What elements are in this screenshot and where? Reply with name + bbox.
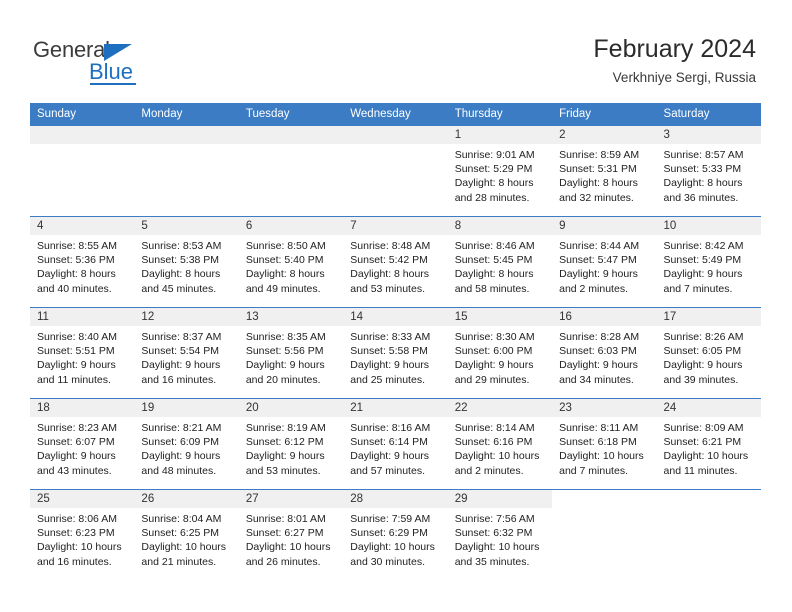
day-cell-inner: 4Sunrise: 8:55 AMSunset: 5:36 PMDaylight…	[30, 217, 134, 307]
day-detail-sunrise: Sunrise: 8:26 AM	[664, 330, 755, 344]
day-detail-daylight1: Daylight: 8 hours	[664, 176, 755, 190]
day-cell-inner: 13Sunrise: 8:35 AMSunset: 5:56 PMDayligh…	[239, 308, 343, 398]
day-cell-inner: 11Sunrise: 8:40 AMSunset: 5:51 PMDayligh…	[30, 308, 134, 398]
day-detail-sunset: Sunset: 6:07 PM	[37, 435, 128, 449]
calendar-day-cell[interactable]: 26Sunrise: 8:04 AMSunset: 6:25 PMDayligh…	[134, 490, 238, 581]
calendar-day-cell[interactable]: 11Sunrise: 8:40 AMSunset: 5:51 PMDayligh…	[30, 308, 134, 399]
calendar-day-cell[interactable]: 10Sunrise: 8:42 AMSunset: 5:49 PMDayligh…	[657, 217, 761, 308]
calendar-day-cell[interactable]: 4Sunrise: 8:55 AMSunset: 5:36 PMDaylight…	[30, 217, 134, 308]
day-number: 8	[448, 217, 552, 235]
day-number: 18	[30, 399, 134, 417]
day-detail-daylight2: and 45 minutes.	[141, 282, 232, 296]
calendar-day-cell[interactable]: 18Sunrise: 8:23 AMSunset: 6:07 PMDayligh…	[30, 399, 134, 490]
day-cell-inner: 15Sunrise: 8:30 AMSunset: 6:00 PMDayligh…	[448, 308, 552, 398]
calendar-day-cell[interactable]: 15Sunrise: 8:30 AMSunset: 6:00 PMDayligh…	[448, 308, 552, 399]
day-cell-inner: 6Sunrise: 8:50 AMSunset: 5:40 PMDaylight…	[239, 217, 343, 307]
page-subtitle: Verkhniye Sergi, Russia	[593, 69, 756, 86]
calendar-day-cell[interactable]: 2Sunrise: 8:59 AMSunset: 5:31 PMDaylight…	[552, 126, 656, 217]
calendar-day-cell[interactable]: 23Sunrise: 8:11 AMSunset: 6:18 PMDayligh…	[552, 399, 656, 490]
day-number: 26	[134, 490, 238, 508]
day-detail-daylight1: Daylight: 10 hours	[559, 449, 650, 463]
day-details: Sunrise: 8:42 AMSunset: 5:49 PMDaylight:…	[657, 235, 761, 296]
day-detail-sunrise: Sunrise: 8:11 AM	[559, 421, 650, 435]
day-detail-sunset: Sunset: 5:42 PM	[350, 253, 441, 267]
day-detail-sunset: Sunset: 5:31 PM	[559, 162, 650, 176]
day-number: 4	[30, 217, 134, 235]
calendar-day-cell[interactable]: 29Sunrise: 7:56 AMSunset: 6:32 PMDayligh…	[448, 490, 552, 581]
day-cell-inner: 18Sunrise: 8:23 AMSunset: 6:07 PMDayligh…	[30, 399, 134, 489]
day-cell-inner: 9Sunrise: 8:44 AMSunset: 5:47 PMDaylight…	[552, 217, 656, 307]
day-detail-daylight2: and 29 minutes.	[455, 373, 546, 387]
day-detail-daylight2: and 43 minutes.	[37, 464, 128, 478]
day-number: 13	[239, 308, 343, 326]
day-detail-sunrise: Sunrise: 8:14 AM	[455, 421, 546, 435]
day-cell-inner: 27Sunrise: 8:01 AMSunset: 6:27 PMDayligh…	[239, 490, 343, 580]
calendar-week-row: 25Sunrise: 8:06 AMSunset: 6:23 PMDayligh…	[30, 490, 761, 581]
day-detail-daylight2: and 48 minutes.	[141, 464, 232, 478]
day-detail-daylight1: Daylight: 10 hours	[350, 540, 441, 554]
brand-logo[interactable]: General Blue	[33, 38, 233, 84]
day-detail-sunset: Sunset: 5:33 PM	[664, 162, 755, 176]
day-detail-sunrise: Sunrise: 8:28 AM	[559, 330, 650, 344]
day-cell-inner: 3Sunrise: 8:57 AMSunset: 5:33 PMDaylight…	[657, 126, 761, 216]
day-detail-sunrise: Sunrise: 8:59 AM	[559, 148, 650, 162]
calendar-cell-empty	[30, 126, 134, 217]
day-detail-daylight1: Daylight: 8 hours	[455, 267, 546, 281]
day-cell-inner	[239, 126, 343, 216]
day-cell-inner: 2Sunrise: 8:59 AMSunset: 5:31 PMDaylight…	[552, 126, 656, 216]
day-cell-inner: 20Sunrise: 8:19 AMSunset: 6:12 PMDayligh…	[239, 399, 343, 489]
day-cell-inner: 5Sunrise: 8:53 AMSunset: 5:38 PMDaylight…	[134, 217, 238, 307]
day-number: 29	[448, 490, 552, 508]
calendar-day-cell[interactable]: 21Sunrise: 8:16 AMSunset: 6:14 PMDayligh…	[343, 399, 447, 490]
day-cell-inner	[552, 490, 656, 580]
day-details: Sunrise: 8:46 AMSunset: 5:45 PMDaylight:…	[448, 235, 552, 296]
day-detail-daylight2: and 11 minutes.	[664, 464, 755, 478]
day-detail-sunrise: Sunrise: 8:30 AM	[455, 330, 546, 344]
day-detail-sunrise: Sunrise: 8:37 AM	[141, 330, 232, 344]
day-detail-daylight2: and 28 minutes.	[455, 191, 546, 205]
calendar-day-cell[interactable]: 1Sunrise: 9:01 AMSunset: 5:29 PMDaylight…	[448, 126, 552, 217]
day-detail-daylight2: and 34 minutes.	[559, 373, 650, 387]
day-details: Sunrise: 8:16 AMSunset: 6:14 PMDaylight:…	[343, 417, 447, 478]
calendar-table: SundayMondayTuesdayWednesdayThursdayFrid…	[30, 103, 761, 580]
day-detail-daylight2: and 57 minutes.	[350, 464, 441, 478]
title-block: February 2024 Verkhniye Sergi, Russia	[593, 34, 756, 86]
day-detail-sunset: Sunset: 5:29 PM	[455, 162, 546, 176]
day-detail-sunrise: Sunrise: 8:35 AM	[246, 330, 337, 344]
day-number	[30, 126, 134, 144]
day-cell-inner	[343, 126, 447, 216]
day-details: Sunrise: 8:28 AMSunset: 6:03 PMDaylight:…	[552, 326, 656, 387]
day-detail-sunset: Sunset: 6:05 PM	[664, 344, 755, 358]
day-detail-sunrise: Sunrise: 8:06 AM	[37, 512, 128, 526]
day-number: 3	[657, 126, 761, 144]
day-details: Sunrise: 8:06 AMSunset: 6:23 PMDaylight:…	[30, 508, 134, 569]
day-detail-daylight2: and 32 minutes.	[559, 191, 650, 205]
day-detail-daylight1: Daylight: 9 hours	[350, 358, 441, 372]
calendar-cell-empty	[552, 490, 656, 581]
day-detail-daylight2: and 11 minutes.	[37, 373, 128, 387]
day-detail-sunrise: Sunrise: 8:50 AM	[246, 239, 337, 253]
day-detail-daylight1: Daylight: 10 hours	[455, 449, 546, 463]
day-details: Sunrise: 8:44 AMSunset: 5:47 PMDaylight:…	[552, 235, 656, 296]
day-detail-sunset: Sunset: 6:27 PM	[246, 526, 337, 540]
day-number	[552, 490, 656, 508]
day-detail-daylight2: and 7 minutes.	[664, 282, 755, 296]
day-number: 1	[448, 126, 552, 144]
day-detail-daylight2: and 49 minutes.	[246, 282, 337, 296]
day-number: 23	[552, 399, 656, 417]
day-number: 5	[134, 217, 238, 235]
day-cell-inner	[30, 126, 134, 216]
day-detail-sunset: Sunset: 6:16 PM	[455, 435, 546, 449]
day-details: Sunrise: 8:57 AMSunset: 5:33 PMDaylight:…	[657, 144, 761, 205]
page-header: General Blue February 2024 Verkhniye Ser…	[0, 0, 792, 102]
day-details: Sunrise: 8:23 AMSunset: 6:07 PMDaylight:…	[30, 417, 134, 478]
day-detail-sunrise: Sunrise: 8:09 AM	[664, 421, 755, 435]
day-details: Sunrise: 8:26 AMSunset: 6:05 PMDaylight:…	[657, 326, 761, 387]
day-cell-inner: 12Sunrise: 8:37 AMSunset: 5:54 PMDayligh…	[134, 308, 238, 398]
day-detail-daylight1: Daylight: 8 hours	[37, 267, 128, 281]
day-detail-sunrise: Sunrise: 8:48 AM	[350, 239, 441, 253]
day-detail-sunset: Sunset: 5:38 PM	[141, 253, 232, 267]
day-detail-daylight2: and 2 minutes.	[559, 282, 650, 296]
day-details: Sunrise: 8:33 AMSunset: 5:58 PMDaylight:…	[343, 326, 447, 387]
day-detail-sunset: Sunset: 6:03 PM	[559, 344, 650, 358]
day-number	[134, 126, 238, 144]
day-detail-daylight1: Daylight: 8 hours	[350, 267, 441, 281]
day-details: Sunrise: 8:30 AMSunset: 6:00 PMDaylight:…	[448, 326, 552, 387]
day-detail-daylight2: and 36 minutes.	[664, 191, 755, 205]
day-detail-daylight1: Daylight: 8 hours	[246, 267, 337, 281]
day-detail-sunset: Sunset: 5:47 PM	[559, 253, 650, 267]
day-detail-sunset: Sunset: 6:18 PM	[559, 435, 650, 449]
day-detail-daylight1: Daylight: 8 hours	[455, 176, 546, 190]
day-detail-daylight2: and 58 minutes.	[455, 282, 546, 296]
day-detail-sunrise: Sunrise: 9:01 AM	[455, 148, 546, 162]
day-detail-sunrise: Sunrise: 8:46 AM	[455, 239, 546, 253]
day-number: 24	[657, 399, 761, 417]
day-detail-daylight1: Daylight: 8 hours	[559, 176, 650, 190]
day-detail-daylight1: Daylight: 9 hours	[246, 358, 337, 372]
calendar-day-cell[interactable]: 9Sunrise: 8:44 AMSunset: 5:47 PMDaylight…	[552, 217, 656, 308]
day-detail-sunset: Sunset: 5:56 PM	[246, 344, 337, 358]
day-detail-sunrise: Sunrise: 8:57 AM	[664, 148, 755, 162]
day-number: 16	[552, 308, 656, 326]
day-detail-daylight1: Daylight: 8 hours	[141, 267, 232, 281]
day-detail-sunset: Sunset: 6:00 PM	[455, 344, 546, 358]
calendar-day-cell[interactable]: 14Sunrise: 8:33 AMSunset: 5:58 PMDayligh…	[343, 308, 447, 399]
day-number: 9	[552, 217, 656, 235]
calendar-cell-empty	[343, 126, 447, 217]
day-details: Sunrise: 8:53 AMSunset: 5:38 PMDaylight:…	[134, 235, 238, 296]
day-detail-daylight1: Daylight: 10 hours	[455, 540, 546, 554]
day-details: Sunrise: 9:01 AMSunset: 5:29 PMDaylight:…	[448, 144, 552, 205]
day-detail-sunset: Sunset: 6:21 PM	[664, 435, 755, 449]
day-detail-sunset: Sunset: 5:49 PM	[664, 253, 755, 267]
day-cell-inner: 7Sunrise: 8:48 AMSunset: 5:42 PMDaylight…	[343, 217, 447, 307]
day-detail-sunset: Sunset: 5:58 PM	[350, 344, 441, 358]
day-number: 14	[343, 308, 447, 326]
day-number: 21	[343, 399, 447, 417]
weekday-header-wednesday: Wednesday	[343, 103, 447, 126]
weekday-header-monday: Monday	[134, 103, 238, 126]
day-number: 19	[134, 399, 238, 417]
day-cell-inner: 25Sunrise: 8:06 AMSunset: 6:23 PMDayligh…	[30, 490, 134, 580]
day-detail-daylight1: Daylight: 10 hours	[141, 540, 232, 554]
day-details: Sunrise: 8:55 AMSunset: 5:36 PMDaylight:…	[30, 235, 134, 296]
weekday-header-thursday: Thursday	[448, 103, 552, 126]
day-detail-daylight2: and 20 minutes.	[246, 373, 337, 387]
day-number: 17	[657, 308, 761, 326]
calendar-cell-empty	[657, 490, 761, 581]
day-detail-daylight2: and 16 minutes.	[37, 555, 128, 569]
day-detail-sunset: Sunset: 5:40 PM	[246, 253, 337, 267]
calendar-day-cell[interactable]: 27Sunrise: 8:01 AMSunset: 6:27 PMDayligh…	[239, 490, 343, 581]
day-detail-daylight1: Daylight: 9 hours	[246, 449, 337, 463]
day-detail-sunrise: Sunrise: 8:04 AM	[141, 512, 232, 526]
day-detail-daylight2: and 2 minutes.	[455, 464, 546, 478]
day-detail-sunset: Sunset: 5:45 PM	[455, 253, 546, 267]
day-detail-daylight1: Daylight: 9 hours	[37, 358, 128, 372]
day-details: Sunrise: 8:48 AMSunset: 5:42 PMDaylight:…	[343, 235, 447, 296]
day-number: 12	[134, 308, 238, 326]
day-detail-sunrise: Sunrise: 8:33 AM	[350, 330, 441, 344]
calendar-day-cell[interactable]: 19Sunrise: 8:21 AMSunset: 6:09 PMDayligh…	[134, 399, 238, 490]
day-number	[239, 126, 343, 144]
day-detail-sunset: Sunset: 6:12 PM	[246, 435, 337, 449]
day-detail-sunrise: Sunrise: 8:19 AM	[246, 421, 337, 435]
calendar-container: SundayMondayTuesdayWednesdayThursdayFrid…	[30, 103, 761, 580]
day-details: Sunrise: 8:11 AMSunset: 6:18 PMDaylight:…	[552, 417, 656, 478]
day-detail-sunset: Sunset: 5:51 PM	[37, 344, 128, 358]
day-number: 7	[343, 217, 447, 235]
day-detail-daylight2: and 26 minutes.	[246, 555, 337, 569]
day-detail-sunset: Sunset: 6:29 PM	[350, 526, 441, 540]
day-detail-sunset: Sunset: 5:36 PM	[37, 253, 128, 267]
weekday-header: SundayMondayTuesdayWednesdayThursdayFrid…	[30, 103, 761, 126]
day-details: Sunrise: 8:35 AMSunset: 5:56 PMDaylight:…	[239, 326, 343, 387]
day-details: Sunrise: 8:09 AMSunset: 6:21 PMDaylight:…	[657, 417, 761, 478]
day-cell-inner: 1Sunrise: 9:01 AMSunset: 5:29 PMDaylight…	[448, 126, 552, 216]
weekday-header-saturday: Saturday	[657, 103, 761, 126]
calendar-day-cell[interactable]: 20Sunrise: 8:19 AMSunset: 6:12 PMDayligh…	[239, 399, 343, 490]
brand-underline	[90, 83, 136, 85]
day-detail-sunset: Sunset: 5:54 PM	[141, 344, 232, 358]
day-detail-daylight2: and 16 minutes.	[141, 373, 232, 387]
day-details: Sunrise: 7:56 AMSunset: 6:32 PMDaylight:…	[448, 508, 552, 569]
day-detail-sunrise: Sunrise: 8:23 AM	[37, 421, 128, 435]
calendar-week-row: 4Sunrise: 8:55 AMSunset: 5:36 PMDaylight…	[30, 217, 761, 308]
calendar-day-cell[interactable]: 6Sunrise: 8:50 AMSunset: 5:40 PMDaylight…	[239, 217, 343, 308]
day-detail-daylight2: and 35 minutes.	[455, 555, 546, 569]
weekday-header-friday: Friday	[552, 103, 656, 126]
day-cell-inner: 17Sunrise: 8:26 AMSunset: 6:05 PMDayligh…	[657, 308, 761, 398]
day-cell-inner: 19Sunrise: 8:21 AMSunset: 6:09 PMDayligh…	[134, 399, 238, 489]
day-details: Sunrise: 8:40 AMSunset: 5:51 PMDaylight:…	[30, 326, 134, 387]
calendar-cell-empty	[134, 126, 238, 217]
day-detail-daylight1: Daylight: 9 hours	[455, 358, 546, 372]
calendar-week-row: 18Sunrise: 8:23 AMSunset: 6:07 PMDayligh…	[30, 399, 761, 490]
day-cell-inner	[657, 490, 761, 580]
day-details: Sunrise: 8:50 AMSunset: 5:40 PMDaylight:…	[239, 235, 343, 296]
day-detail-daylight1: Daylight: 9 hours	[350, 449, 441, 463]
day-cell-inner: 23Sunrise: 8:11 AMSunset: 6:18 PMDayligh…	[552, 399, 656, 489]
day-detail-sunset: Sunset: 6:14 PM	[350, 435, 441, 449]
day-detail-sunrise: Sunrise: 8:40 AM	[37, 330, 128, 344]
day-detail-sunrise: Sunrise: 8:55 AM	[37, 239, 128, 253]
day-details: Sunrise: 8:21 AMSunset: 6:09 PMDaylight:…	[134, 417, 238, 478]
day-cell-inner: 8Sunrise: 8:46 AMSunset: 5:45 PMDaylight…	[448, 217, 552, 307]
day-detail-sunset: Sunset: 6:23 PM	[37, 526, 128, 540]
day-detail-daylight2: and 39 minutes.	[664, 373, 755, 387]
calendar-day-cell[interactable]: 17Sunrise: 8:26 AMSunset: 6:05 PMDayligh…	[657, 308, 761, 399]
calendar-day-cell[interactable]: 16Sunrise: 8:28 AMSunset: 6:03 PMDayligh…	[552, 308, 656, 399]
calendar-day-cell[interactable]: 3Sunrise: 8:57 AMSunset: 5:33 PMDaylight…	[657, 126, 761, 217]
day-detail-sunrise: Sunrise: 8:16 AM	[350, 421, 441, 435]
calendar-header-row: SundayMondayTuesdayWednesdayThursdayFrid…	[30, 103, 761, 126]
day-detail-sunrise: Sunrise: 8:42 AM	[664, 239, 755, 253]
day-number: 28	[343, 490, 447, 508]
day-number	[657, 490, 761, 508]
day-detail-sunrise: Sunrise: 7:56 AM	[455, 512, 546, 526]
day-detail-daylight2: and 25 minutes.	[350, 373, 441, 387]
day-detail-sunset: Sunset: 6:32 PM	[455, 526, 546, 540]
day-cell-inner: 16Sunrise: 8:28 AMSunset: 6:03 PMDayligh…	[552, 308, 656, 398]
day-number	[343, 126, 447, 144]
day-number: 27	[239, 490, 343, 508]
calendar-day-cell[interactable]: 13Sunrise: 8:35 AMSunset: 5:56 PMDayligh…	[239, 308, 343, 399]
day-details: Sunrise: 8:59 AMSunset: 5:31 PMDaylight:…	[552, 144, 656, 205]
day-cell-inner: 26Sunrise: 8:04 AMSunset: 6:25 PMDayligh…	[134, 490, 238, 580]
day-detail-daylight2: and 53 minutes.	[246, 464, 337, 478]
day-detail-daylight1: Daylight: 9 hours	[559, 358, 650, 372]
day-detail-daylight1: Daylight: 9 hours	[141, 449, 232, 463]
day-details: Sunrise: 7:59 AMSunset: 6:29 PMDaylight:…	[343, 508, 447, 569]
day-detail-daylight2: and 53 minutes.	[350, 282, 441, 296]
day-detail-daylight1: Daylight: 9 hours	[559, 267, 650, 281]
day-number: 11	[30, 308, 134, 326]
day-cell-inner: 22Sunrise: 8:14 AMSunset: 6:16 PMDayligh…	[448, 399, 552, 489]
calendar-day-cell[interactable]: 12Sunrise: 8:37 AMSunset: 5:54 PMDayligh…	[134, 308, 238, 399]
day-detail-daylight1: Daylight: 10 hours	[664, 449, 755, 463]
calendar-week-row: 11Sunrise: 8:40 AMSunset: 5:51 PMDayligh…	[30, 308, 761, 399]
calendar-cell-empty	[239, 126, 343, 217]
day-detail-daylight1: Daylight: 10 hours	[246, 540, 337, 554]
day-cell-inner	[134, 126, 238, 216]
day-cell-inner: 28Sunrise: 7:59 AMSunset: 6:29 PMDayligh…	[343, 490, 447, 580]
day-detail-daylight1: Daylight: 9 hours	[664, 358, 755, 372]
day-detail-sunrise: Sunrise: 8:53 AM	[141, 239, 232, 253]
calendar-page: General Blue February 2024 Verkhniye Ser…	[0, 0, 792, 612]
day-detail-daylight2: and 7 minutes.	[559, 464, 650, 478]
day-number: 6	[239, 217, 343, 235]
weekday-header-tuesday: Tuesday	[239, 103, 343, 126]
day-detail-daylight1: Daylight: 9 hours	[141, 358, 232, 372]
brand-name-blue: Blue	[89, 60, 133, 84]
day-cell-inner: 24Sunrise: 8:09 AMSunset: 6:21 PMDayligh…	[657, 399, 761, 489]
day-detail-sunset: Sunset: 6:09 PM	[141, 435, 232, 449]
day-detail-sunrise: Sunrise: 8:21 AM	[141, 421, 232, 435]
calendar-body: 1Sunrise: 9:01 AMSunset: 5:29 PMDaylight…	[30, 126, 761, 580]
day-detail-daylight2: and 21 minutes.	[141, 555, 232, 569]
day-cell-inner: 14Sunrise: 8:33 AMSunset: 5:58 PMDayligh…	[343, 308, 447, 398]
day-number: 15	[448, 308, 552, 326]
day-number: 25	[30, 490, 134, 508]
calendar-day-cell[interactable]: 25Sunrise: 8:06 AMSunset: 6:23 PMDayligh…	[30, 490, 134, 581]
day-detail-daylight1: Daylight: 9 hours	[664, 267, 755, 281]
calendar-day-cell[interactable]: 7Sunrise: 8:48 AMSunset: 5:42 PMDaylight…	[343, 217, 447, 308]
day-cell-inner: 10Sunrise: 8:42 AMSunset: 5:49 PMDayligh…	[657, 217, 761, 307]
page-title: February 2024	[593, 34, 756, 64]
day-number: 10	[657, 217, 761, 235]
calendar-week-row: 1Sunrise: 9:01 AMSunset: 5:29 PMDaylight…	[30, 126, 761, 217]
day-detail-sunrise: Sunrise: 8:44 AM	[559, 239, 650, 253]
day-detail-daylight1: Daylight: 9 hours	[37, 449, 128, 463]
calendar-day-cell[interactable]: 5Sunrise: 8:53 AMSunset: 5:38 PMDaylight…	[134, 217, 238, 308]
day-detail-sunset: Sunset: 6:25 PM	[141, 526, 232, 540]
weekday-header-sunday: Sunday	[30, 103, 134, 126]
day-number: 20	[239, 399, 343, 417]
day-details: Sunrise: 8:37 AMSunset: 5:54 PMDaylight:…	[134, 326, 238, 387]
day-number: 22	[448, 399, 552, 417]
day-details: Sunrise: 8:19 AMSunset: 6:12 PMDaylight:…	[239, 417, 343, 478]
day-cell-inner: 21Sunrise: 8:16 AMSunset: 6:14 PMDayligh…	[343, 399, 447, 489]
calendar-day-cell[interactable]: 8Sunrise: 8:46 AMSunset: 5:45 PMDaylight…	[448, 217, 552, 308]
calendar-day-cell[interactable]: 22Sunrise: 8:14 AMSunset: 6:16 PMDayligh…	[448, 399, 552, 490]
day-cell-inner: 29Sunrise: 7:56 AMSunset: 6:32 PMDayligh…	[448, 490, 552, 580]
day-detail-daylight2: and 40 minutes.	[37, 282, 128, 296]
day-detail-daylight1: Daylight: 10 hours	[37, 540, 128, 554]
day-detail-sunrise: Sunrise: 7:59 AM	[350, 512, 441, 526]
day-number: 2	[552, 126, 656, 144]
day-details: Sunrise: 8:01 AMSunset: 6:27 PMDaylight:…	[239, 508, 343, 569]
day-details: Sunrise: 8:04 AMSunset: 6:25 PMDaylight:…	[134, 508, 238, 569]
day-details: Sunrise: 8:14 AMSunset: 6:16 PMDaylight:…	[448, 417, 552, 478]
calendar-day-cell[interactable]: 24Sunrise: 8:09 AMSunset: 6:21 PMDayligh…	[657, 399, 761, 490]
calendar-day-cell[interactable]: 28Sunrise: 7:59 AMSunset: 6:29 PMDayligh…	[343, 490, 447, 581]
day-detail-sunrise: Sunrise: 8:01 AM	[246, 512, 337, 526]
day-detail-daylight2: and 30 minutes.	[350, 555, 441, 569]
